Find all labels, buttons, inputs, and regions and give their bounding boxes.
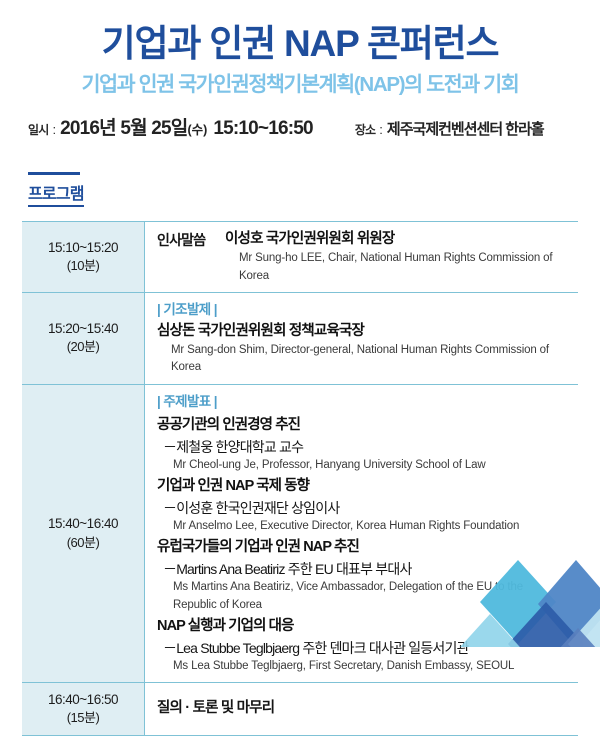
speaker-name-en: Mr Sung-ho LEE, Chair, National Human Ri… xyxy=(225,250,568,285)
talk-item: 유럽국가들의 기업과 인권 NAP 추진 －Martins Ana Beatir… xyxy=(157,535,568,614)
time-cell: 15:40~16:40 (60분) xyxy=(22,384,145,683)
talk-presenter: －Lea Stubbe Teglbjaerg 주한 덴마크 대사관 일등서기관 xyxy=(157,638,568,658)
role-tag: 인사말씀 xyxy=(157,229,225,250)
talk-topic: NAP 실행과 기업의 대응 xyxy=(157,614,568,638)
time-range: 15:10~15:20 xyxy=(24,239,142,257)
speaker-name-en: Mr Sang-don Shim, Director-general, Nati… xyxy=(157,342,568,377)
time-duration: (60분) xyxy=(24,534,142,552)
talk-topic: 기업과 인권 NAP 국제 동향 xyxy=(157,474,568,498)
time-cell: 15:20~15:40 (20분) xyxy=(22,292,145,384)
talk-presenter: －이성훈 한국인권재단 상임이사 xyxy=(157,498,568,518)
session-cell: 인사말씀 이성호 국가인권위원회 위원장 Mr Sung-ho LEE, Cha… xyxy=(145,222,579,293)
session-cell: 질의 · 토론 및 마무리 xyxy=(145,683,579,736)
talk-item: 기업과 인권 NAP 국제 동향 －이성훈 한국인권재단 상임이사 Mr Ans… xyxy=(157,474,568,535)
event-meta: 일시 : 2016년 5월 25일 (수) 15:10~16:50 장소 : 제… xyxy=(0,96,600,140)
venue-colon: : xyxy=(375,122,387,137)
speaker-name-ko: 이성호 국가인권위원회 위원장 xyxy=(225,229,568,250)
venue-label: 장소 xyxy=(355,121,375,138)
talk-topic: 유럽국가들의 기업과 인권 NAP 추진 xyxy=(157,535,568,559)
time-range: 15:40~16:40 xyxy=(24,515,142,533)
session-plain-label: 질의 · 토론 및 마무리 xyxy=(157,698,568,720)
table-row: 15:20~15:40 (20분) | 기조발제 | 심상돈 국가인권위원회 정… xyxy=(22,292,578,384)
session-cell: | 기조발제 | 심상돈 국가인권위원회 정책교육국장 Mr Sang-don … xyxy=(145,292,579,384)
program-heading: 프로그램 xyxy=(28,180,84,207)
conference-header: 기업과 인권 NAP 콘퍼런스 기업과 인권 국가인권정책기본계획(NAP)의 … xyxy=(0,0,600,140)
table-row: 16:40~16:50 (15분) 질의 · 토론 및 마무리 xyxy=(22,683,578,736)
time-duration: (10분) xyxy=(24,257,142,275)
page-subtitle: 기업과 인권 국가인권정책기본계획(NAP)의 도전과 기회 xyxy=(0,67,600,97)
program-rule-bar xyxy=(28,172,80,175)
talk-presenter-en: Mr Anselmo Lee, Executive Director, Kore… xyxy=(157,518,568,535)
time-range: 15:20~15:40 xyxy=(24,320,142,338)
session-cell: | 주제발표 | 공공기관의 인권경영 추진 －제철웅 한양대학교 교수 Mr … xyxy=(145,384,579,683)
talk-item: 공공기관의 인권경영 추진 －제철웅 한양대학교 교수 Mr Cheol-ung… xyxy=(157,413,568,474)
date-value: 2016년 5월 25일 xyxy=(60,113,187,140)
speaker-name-ko: 심상돈 국가인권위원회 정책교육국장 xyxy=(157,321,568,342)
talk-presenter-en: Ms Martins Ana Beatiriz, Vice Ambassador… xyxy=(157,579,568,614)
date-label: 일시 xyxy=(28,121,48,138)
talk-presenter-en: Ms Lea Stubbe Teglbjaerg, First Secretar… xyxy=(157,658,568,675)
date-time: 15:10~16:50 xyxy=(207,118,313,140)
program-heading-block: 프로그램 xyxy=(0,140,600,207)
date-weekday: (수) xyxy=(187,119,207,138)
event-date-block: 일시 : 2016년 5월 25일 (수) 15:10~16:50 xyxy=(28,113,313,140)
talk-topic: 공공기관의 인권경영 추진 xyxy=(157,413,568,437)
talk-presenter-en: Mr Cheol-ung Je, Professor, Hanyang Univ… xyxy=(157,457,568,474)
table-row: 15:10~15:20 (10분) 인사말씀 이성호 국가인권위원회 위원장 M… xyxy=(22,222,578,293)
talk-item: NAP 실행과 기업의 대응 －Lea Stubbe Teglbjaerg 주한… xyxy=(157,614,568,675)
program-schedule-table: 15:10~15:20 (10분) 인사말씀 이성호 국가인권위원회 위원장 M… xyxy=(22,221,578,736)
event-venue-block: 장소 : 제주국제컨벤션센터 한라홀 xyxy=(355,118,544,139)
time-cell: 15:10~15:20 (10분) xyxy=(22,222,145,293)
talk-presenter: －Martins Ana Beatiriz 주한 EU 대표부 부대사 xyxy=(157,559,568,579)
talk-presenter: －제철웅 한양대학교 교수 xyxy=(157,437,568,457)
time-cell: 16:40~16:50 (15분) xyxy=(22,683,145,736)
time-range: 16:40~16:50 xyxy=(24,691,142,709)
session-section-tag: | 주제발표 | xyxy=(157,392,568,413)
time-duration: (20분) xyxy=(24,338,142,356)
session-section-tag: | 기조발제 | xyxy=(157,300,568,321)
page-title: 기업과 인권 NAP 콘퍼런스 xyxy=(0,14,600,67)
table-row: 15:40~16:40 (60분) | 주제발표 | 공공기관의 인권경영 추진… xyxy=(22,384,578,683)
date-colon: : xyxy=(48,122,60,137)
time-duration: (15분) xyxy=(24,709,142,727)
venue-value: 제주국제컨벤션센터 한라홀 xyxy=(387,118,544,139)
